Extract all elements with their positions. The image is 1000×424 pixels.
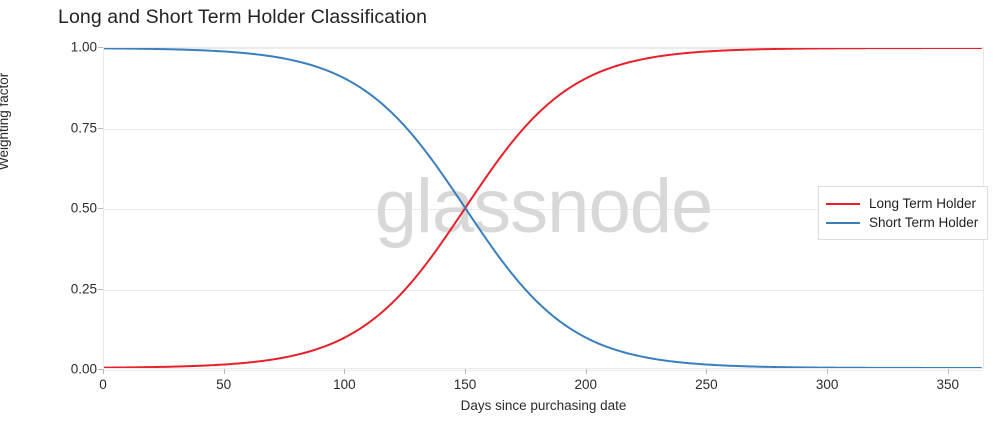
x-tick-mark bbox=[103, 369, 104, 374]
x-tick-mark bbox=[827, 369, 828, 374]
chart-figure: Long and Short Term Holder Classificatio… bbox=[0, 0, 1000, 424]
x-tick-label: 200 bbox=[574, 377, 597, 392]
x-tick-mark bbox=[224, 369, 225, 374]
x-tick-label: 350 bbox=[937, 377, 960, 392]
y-tick-label: 1.00 bbox=[51, 40, 97, 55]
y-axis-ticks: 0.000.250.500.751.00 bbox=[45, 47, 97, 369]
legend-color-swatch bbox=[826, 203, 860, 205]
legend-color-swatch bbox=[826, 222, 860, 224]
chart-title: Long and Short Term Holder Classificatio… bbox=[58, 6, 427, 29]
x-tick-mark bbox=[706, 369, 707, 374]
legend-label: Short Term Holder bbox=[869, 215, 978, 230]
y-axis-label: Weighting factor bbox=[0, 73, 11, 170]
y-tick-label: 0.00 bbox=[51, 362, 97, 377]
y-tick-label: 0.25 bbox=[51, 281, 97, 296]
x-tick-mark bbox=[344, 369, 345, 374]
legend-label: Long Term Holder bbox=[869, 196, 976, 211]
x-tick-mark bbox=[586, 369, 587, 374]
chart-legend: Long Term HolderShort Term Holder bbox=[818, 186, 988, 240]
x-tick-label: 150 bbox=[454, 377, 477, 392]
x-tick-label: 250 bbox=[695, 377, 718, 392]
x-axis-label: Days since purchasing date bbox=[103, 398, 984, 413]
x-tick-label: 50 bbox=[216, 377, 231, 392]
x-tick-label: 0 bbox=[99, 377, 107, 392]
x-axis-ticks: 050100150200250300350 bbox=[103, 369, 984, 399]
x-tick-label: 100 bbox=[333, 377, 356, 392]
legend-item[interactable]: Short Term Holder bbox=[826, 213, 978, 232]
x-tick-label: 300 bbox=[816, 377, 839, 392]
x-tick-mark bbox=[948, 369, 949, 374]
y-tick-label: 0.50 bbox=[51, 201, 97, 216]
y-tick-label: 0.75 bbox=[51, 120, 97, 135]
x-tick-mark bbox=[465, 369, 466, 374]
legend-item[interactable]: Long Term Holder bbox=[826, 194, 978, 213]
